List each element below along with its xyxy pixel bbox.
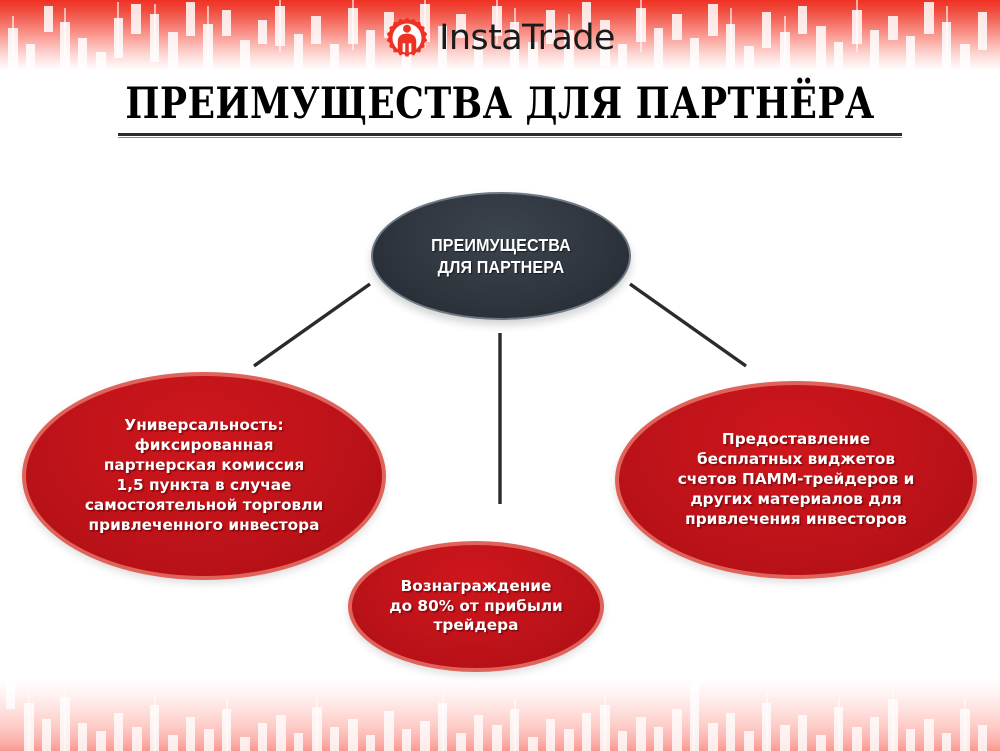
connector-center-to-left: [254, 284, 370, 366]
slide-canvas: InstaTrade ПРЕИМУЩЕСТВА ДЛЯ ПАРТНЁРА ПРЕ…: [0, 0, 1000, 751]
center-node-label: ПРЕИМУЩЕСТВА ДЛЯ ПАРТНЕРА: [431, 234, 571, 278]
brand-logo: InstaTrade: [0, 14, 1000, 62]
page-title-text: ПРЕИМУЩЕСТВА ДЛЯ ПАРТНЁРА: [125, 83, 874, 126]
diagram-center-node[interactable]: ПРЕИМУЩЕСТВА ДЛЯ ПАРТНЕРА: [371, 192, 631, 320]
brand-name-part1: Insta: [439, 18, 522, 58]
divider-thick-line: [118, 133, 902, 136]
gear-person-icon: [385, 16, 429, 60]
diagram-node-universality[interactable]: Универсальность: фиксированная партнерск…: [22, 372, 386, 580]
divider-thin-line: [118, 137, 902, 138]
title-divider: [118, 133, 902, 138]
node-universality-label: Универсальность: фиксированная партнерск…: [51, 416, 357, 535]
brand-name-part2: Trade: [522, 18, 615, 58]
node-reward-label: Вознаграждение до 80% от прибыли трейдер…: [367, 577, 585, 637]
connector-center-to-right: [630, 284, 746, 366]
diagram-node-free-widgets[interactable]: Предоставление бесплатных виджетов счето…: [615, 381, 977, 579]
node-free-widgets-label: Предоставление бесплатных виджетов счето…: [648, 430, 945, 529]
diagram-node-reward[interactable]: Вознаграждение до 80% от прибыли трейдер…: [348, 541, 604, 672]
brand-name: InstaTrade: [439, 21, 615, 56]
page-title: ПРЕИМУЩЕСТВА ДЛЯ ПАРТНЁРА: [0, 83, 1000, 126]
